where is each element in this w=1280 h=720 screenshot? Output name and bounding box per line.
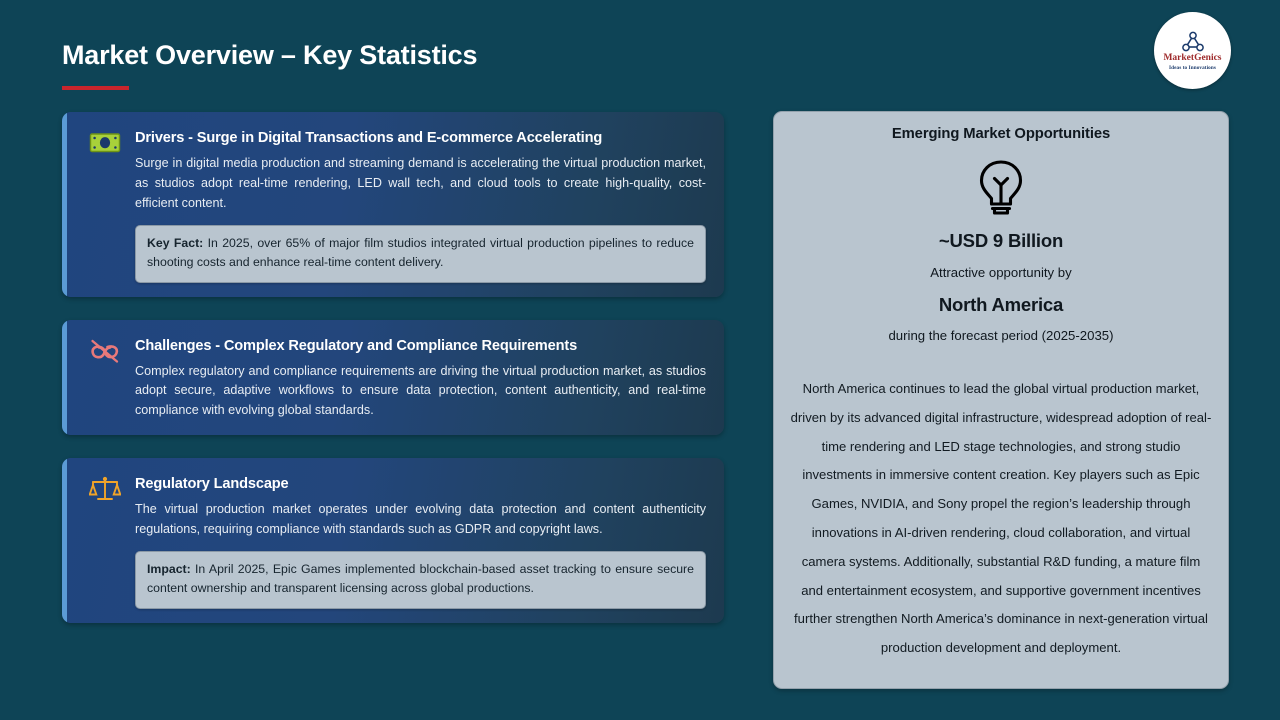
region-description: North America continues to lead the glob… bbox=[790, 375, 1212, 663]
spacer bbox=[62, 435, 724, 458]
opportunity-subtitle: Attractive opportunity by bbox=[790, 265, 1212, 280]
card-body-text: Complex regulatory and compliance requir… bbox=[135, 362, 706, 421]
callout-text: In April 2025, Epic Games implemented bl… bbox=[147, 562, 694, 595]
card-title: Drivers - Surge in Digital Transactions … bbox=[135, 129, 706, 147]
emerging-market-opportunities-panel: Emerging Market Opportunities ~USD 9 Bil… bbox=[773, 111, 1229, 689]
impact-callout: Impact: In April 2025, Epic Games implem… bbox=[135, 551, 706, 608]
panel-title: Emerging Market Opportunities bbox=[790, 126, 1212, 142]
card-challenges: Challenges - Complex Regulatory and Comp… bbox=[62, 320, 724, 435]
callout-label: Impact: bbox=[147, 562, 191, 576]
card-drivers: Drivers - Surge in Digital Transactions … bbox=[62, 112, 724, 297]
card-body-text: Surge in digital media production and st… bbox=[135, 154, 706, 213]
leading-region: North America bbox=[790, 294, 1212, 316]
forecast-period: during the forecast period (2025-2035) bbox=[790, 328, 1212, 343]
card-title: Regulatory Landscape bbox=[135, 475, 706, 493]
card-body-text: The virtual production market operates u… bbox=[135, 500, 706, 539]
title-underline-rule bbox=[62, 86, 129, 90]
callout-label: Key Fact: bbox=[147, 236, 203, 250]
card-regulatory-landscape: Regulatory Landscape The virtual product… bbox=[62, 458, 724, 623]
logo-tagline: Ideas to Innovations bbox=[1169, 65, 1216, 71]
logo-name: MarketGenics bbox=[1163, 54, 1221, 64]
spacer bbox=[62, 297, 724, 320]
broken-link-icon bbox=[88, 334, 122, 368]
network-nodes-icon bbox=[1180, 31, 1206, 53]
market-value: ~USD 9 Billion bbox=[790, 230, 1212, 252]
key-fact-callout: Key Fact: In 2025, over 65% of major fil… bbox=[135, 225, 706, 282]
page-title: Market Overview – Key Statistics bbox=[62, 40, 477, 71]
money-banknote-icon bbox=[88, 126, 122, 160]
lightbulb-icon bbox=[790, 158, 1212, 218]
insight-cards-column: Drivers - Surge in Digital Transactions … bbox=[62, 112, 724, 623]
scales-of-justice-icon bbox=[88, 472, 122, 506]
card-title: Challenges - Complex Regulatory and Comp… bbox=[135, 337, 706, 355]
callout-text: In 2025, over 65% of major film studios … bbox=[147, 236, 694, 269]
company-logo: MarketGenics Ideas to Innovations bbox=[1154, 12, 1231, 89]
